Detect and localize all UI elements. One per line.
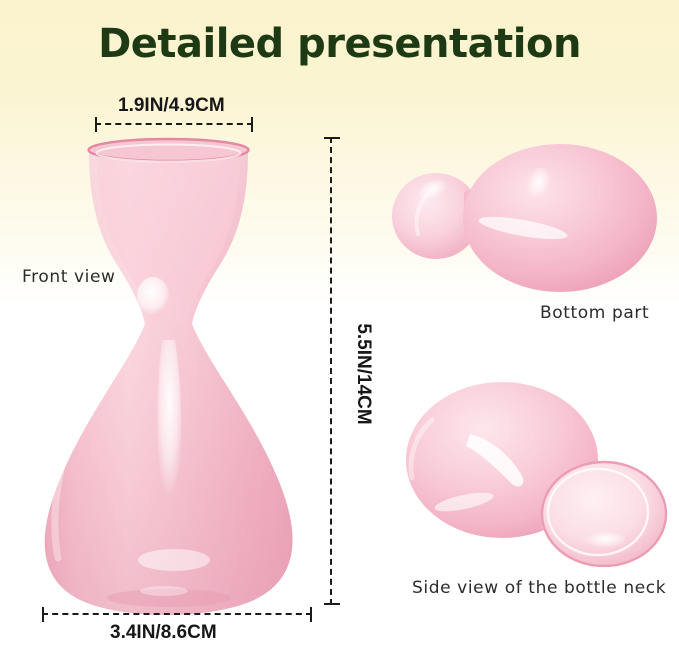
caption-bottom-part: Bottom part	[540, 303, 649, 323]
caption-front-view: Front view	[22, 267, 116, 287]
product-photo-neck-side-view	[392, 372, 672, 567]
waist-highlight	[137, 277, 169, 315]
bottom-part-illustration	[388, 138, 668, 298]
dimension-line-height	[330, 137, 332, 605]
dimension-label-top-width: 1.9IN/4.9CM	[118, 95, 225, 117]
caption-neck-side-view: Side view of the bottle neck	[412, 578, 666, 598]
neck-side-illustration	[392, 372, 672, 567]
neck-cup-highlight	[586, 532, 626, 548]
dimension-label-height: 5.5IN/14CM	[352, 314, 374, 434]
presentation-canvas: Detailed presentation	[0, 0, 679, 654]
product-photo-bottom-part	[388, 138, 668, 298]
page-title: Detailed presentation	[0, 20, 679, 68]
vase-front-illustration	[14, 128, 324, 618]
body-bottom-highlight	[138, 549, 210, 571]
product-photo-front-view	[14, 128, 324, 618]
dimension-line-top-width	[95, 123, 253, 125]
base-sparkle	[140, 586, 188, 596]
dimension-line-bottom-width	[42, 613, 312, 615]
body-vertical-highlight	[157, 340, 181, 498]
dimension-label-bottom-width: 3.4IN/8.6CM	[110, 622, 217, 644]
